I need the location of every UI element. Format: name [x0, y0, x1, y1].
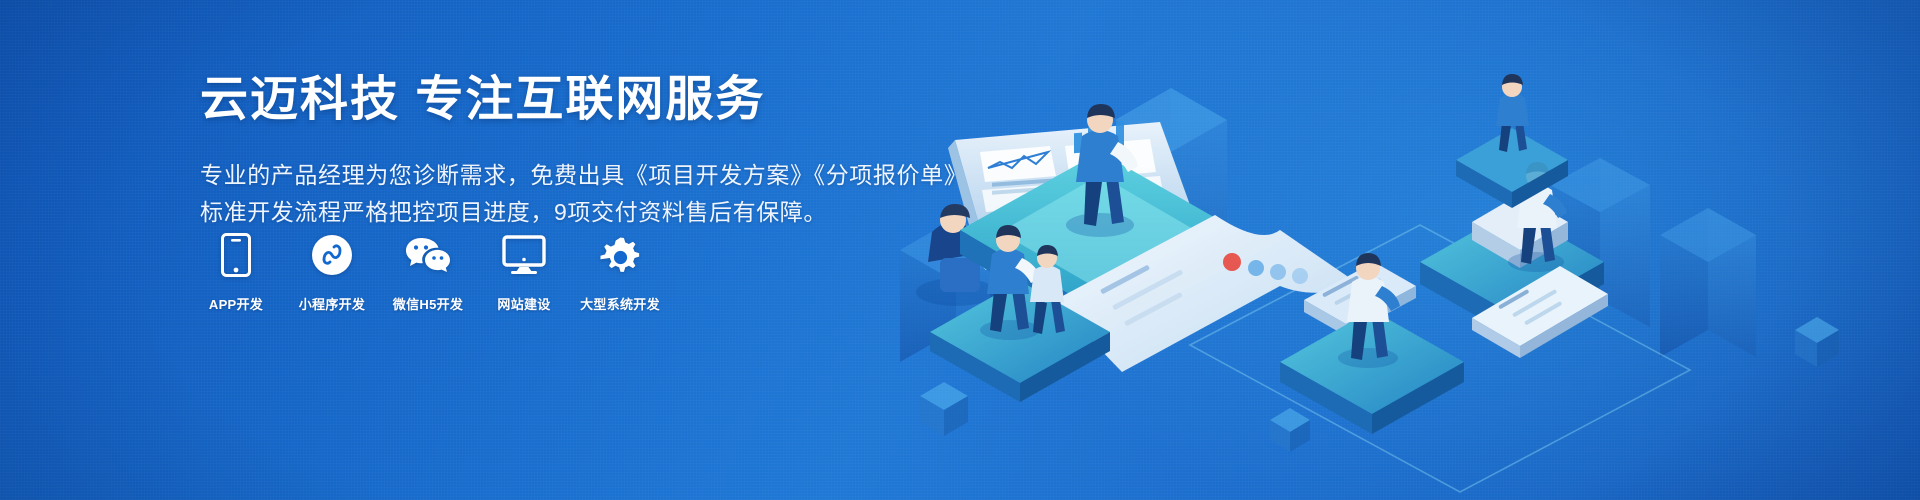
service-label: APP开发 — [209, 294, 263, 313]
wechat-icon — [405, 232, 451, 278]
service-item-app[interactable]: APP开发 — [200, 232, 272, 313]
service-label: 网站建设 — [497, 294, 550, 313]
service-item-large-system[interactable]: 大型系统开发 — [584, 232, 656, 313]
promo-banner: 云迈科技 专注互联网服务 专业的产品经理为您诊断需求，免费出具《项目开发方案》《… — [0, 0, 1920, 500]
service-label: 微信H5开发 — [393, 294, 463, 313]
mobile-phone-icon — [221, 232, 251, 278]
subtitle-line-1: 专业的产品经理为您诊断需求，免费出具《项目开发方案》《分项报价单》 — [200, 157, 920, 194]
mini-program-icon — [311, 232, 353, 278]
service-label: 大型系统开发 — [580, 294, 660, 313]
subtitle-line-2: 标准开发流程严格把控项目进度，9项交付资料售后有保障。 — [200, 194, 920, 231]
gear-icon — [599, 232, 641, 278]
banner-subtitle: 专业的产品经理为您诊断需求，免费出具《项目开发方案》《分项报价单》 标准开发流程… — [200, 157, 920, 232]
service-list: APP开发 小程序开发 — [200, 232, 656, 313]
monitor-icon — [502, 232, 546, 278]
isometric-data-platform-illustration — [860, 0, 1920, 500]
banner-copy: 云迈科技 专注互联网服务 专业的产品经理为您诊断需求，免费出具《项目开发方案》《… — [200, 72, 920, 231]
service-item-mini-program[interactable]: 小程序开发 — [296, 232, 368, 313]
service-label: 小程序开发 — [299, 294, 366, 313]
service-item-website[interactable]: 网站建设 — [488, 232, 560, 313]
service-item-wechat-h5[interactable]: 微信H5开发 — [392, 232, 464, 313]
page-title: 云迈科技 专注互联网服务 — [200, 72, 920, 129]
